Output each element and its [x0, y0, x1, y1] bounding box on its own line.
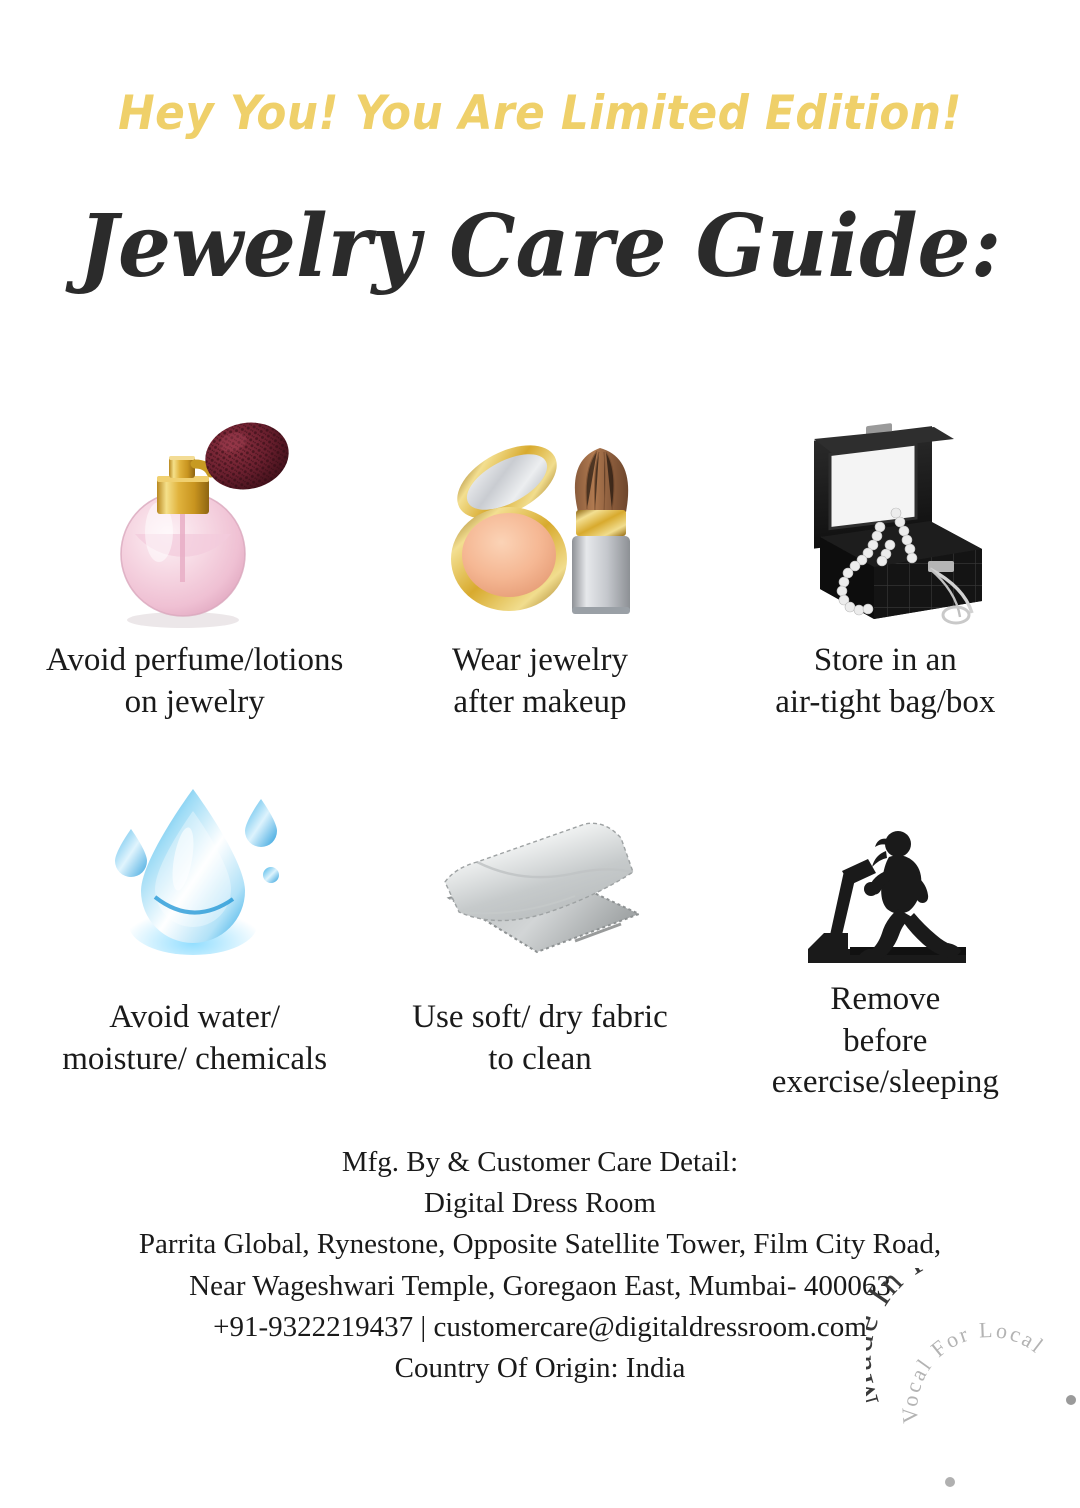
tip-art — [713, 382, 1058, 634]
tip-caption: Remove before exercise/sleeping — [772, 979, 999, 1104]
footer-contact-block: Mfg. By & Customer Care Detail: Digital … — [0, 1142, 1080, 1389]
tagline: Hey You! You Are Limited Edition! — [38, 86, 1042, 141]
tip-art — [367, 767, 712, 977]
tip-caption-line: Remove — [772, 979, 999, 1021]
tip-caption-line: after makeup — [452, 682, 628, 724]
tip-caption-line: on jewelry — [46, 682, 343, 724]
perfume-bottle-icon — [95, 384, 295, 634]
tip-art — [22, 767, 367, 977]
tip-caption-line: Avoid water/ — [62, 997, 327, 1039]
footer-company-name: Digital Dress Room — [0, 1183, 1080, 1224]
tip-caption-line: Use soft/ dry fabric — [412, 997, 668, 1039]
tip-caption: Avoid water/ moisture/ chemicals — [62, 997, 327, 1080]
jewelry-box-icon — [778, 409, 993, 634]
tip-caption-line: to clean — [412, 1039, 668, 1081]
page-title: Jewelry Care Guide: — [16, 196, 1064, 297]
tip-caption-line: Wear jewelry — [452, 640, 628, 682]
water-droplet-icon — [95, 767, 295, 977]
tip-caption: Avoid perfume/lotions on jewelry — [46, 640, 343, 723]
tip-caption: Wear jewelry after makeup — [452, 640, 628, 723]
care-tips-grid: Avoid perfume/lotions on jewelry — [22, 382, 1058, 1152]
care-tip-wear-after-makeup: Wear jewelry after makeup — [367, 382, 712, 767]
tip-caption-line: before — [772, 1021, 999, 1063]
footer-country-of-origin: Country Of Origin: India — [0, 1348, 1080, 1389]
tip-caption-line: Avoid perfume/lotions — [46, 640, 343, 682]
care-tip-soft-cloth: Use soft/ dry fabric to clean — [367, 767, 712, 1152]
tip-caption: Store in an air-tight bag/box — [775, 640, 995, 723]
badge-dot-right — [1066, 1395, 1076, 1405]
tip-caption-line: air-tight bag/box — [775, 682, 995, 724]
tip-caption-line: moisture/ chemicals — [62, 1039, 327, 1081]
footer-address-line-2: Near Wageshwari Temple, Goregaon East, M… — [0, 1266, 1080, 1307]
care-tip-avoid-water: Avoid water/ moisture/ chemicals — [22, 767, 367, 1152]
care-tip-avoid-perfume: Avoid perfume/lotions on jewelry — [22, 382, 367, 767]
tip-caption: Use soft/ dry fabric to clean — [412, 997, 668, 1080]
footer-heading: Mfg. By & Customer Care Detail: — [0, 1142, 1080, 1183]
footer-contact-line: +91-9322219437 | customercare@digitaldre… — [0, 1307, 1080, 1348]
footer-address-line-1: Parrita Global, Rynestone, Opposite Sate… — [0, 1224, 1080, 1265]
makeup-compact-brush-icon — [435, 424, 645, 634]
tip-caption-line: Store in an — [775, 640, 995, 682]
tip-art — [22, 382, 367, 634]
tip-art — [367, 382, 712, 634]
badge-dot-left — [945, 1477, 955, 1487]
cleaning-cloth-icon — [425, 802, 655, 977]
treadmill-runner-icon — [790, 817, 980, 977]
tip-caption-line: exercise/sleeping — [772, 1062, 999, 1104]
care-tip-remove-before-exercise: Remove before exercise/sleeping — [713, 767, 1058, 1152]
care-tip-store-airtight: Store in an air-tight bag/box — [713, 382, 1058, 767]
tip-art — [713, 767, 1058, 977]
